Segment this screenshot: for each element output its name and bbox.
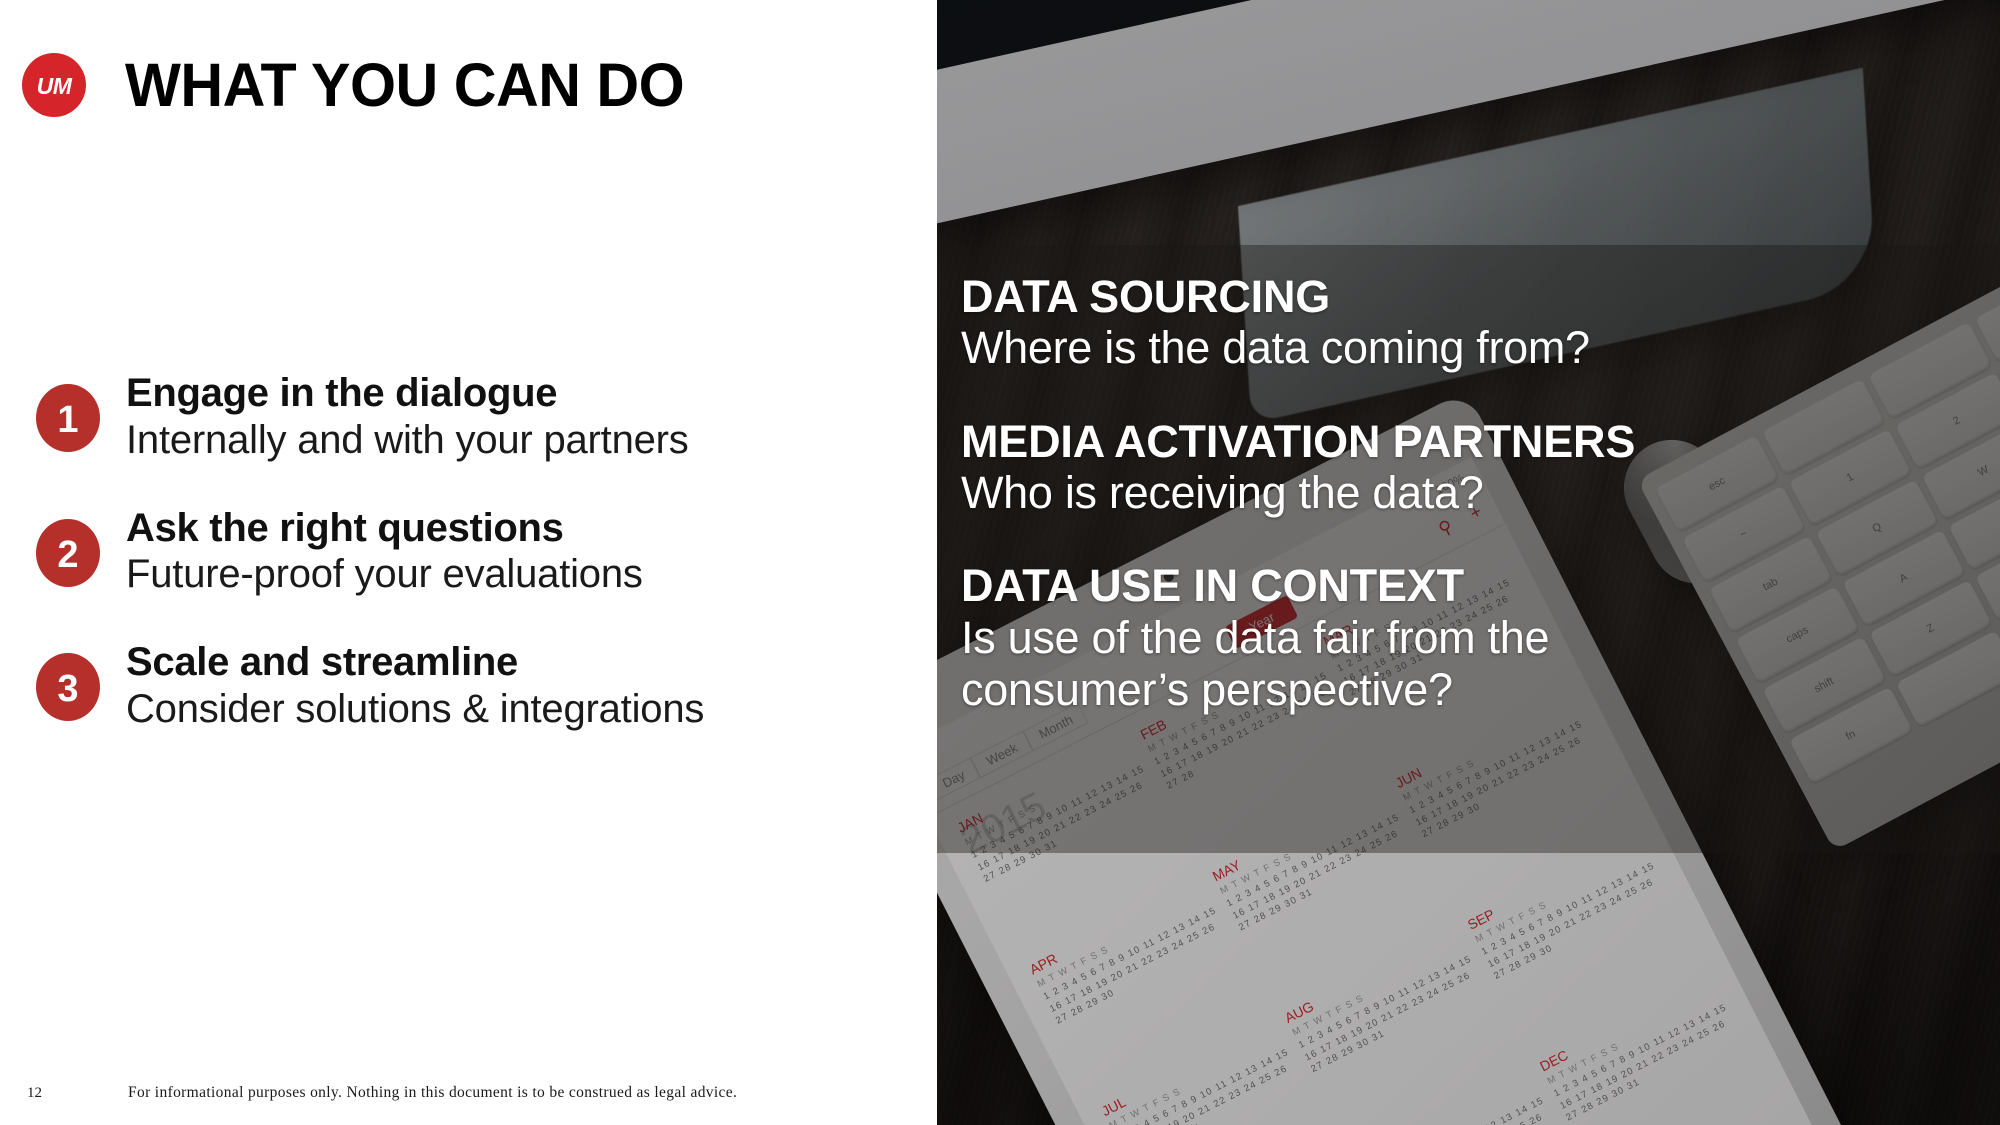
left-content-panel: UM WHAT YOU CAN DO 1 Engage in the dialo… [0,0,937,1125]
legal-disclaimer: For informational purposes only. Nothing… [128,1084,737,1102]
question-block: DATA SOURCING Where is the data coming f… [961,272,1981,375]
step-number: 2 [57,536,78,574]
step-number: 1 [57,401,78,439]
step-subtitle: Consider solutions & integrations [126,686,704,733]
questions-list: DATA SOURCING Where is the data coming f… [961,272,1981,716]
question-text-line2: consumer’s perspective? [961,664,1981,716]
step-number-badge: 3 [36,653,100,721]
step-text: Scale and streamline Consider solutions … [126,637,704,733]
step-title: Engage in the dialogue [126,370,689,417]
page-number: 12 [27,1085,42,1102]
step-title: Scale and streamline [126,639,704,686]
question-heading: MEDIA ACTIVATION PARTNERS [961,417,1981,467]
step-text: Ask the right questions Future-proof you… [126,503,643,599]
question-text: Where is the data coming from? [961,322,1981,374]
list-item: 3 Scale and streamline Consider solution… [36,637,916,733]
step-title: Ask the right questions [126,505,643,552]
question-text: Who is receiving the data? [961,467,1981,519]
slide-header: UM WHAT YOU CAN DO [22,45,702,125]
question-block: MEDIA ACTIVATION PARTNERS Who is receivi… [961,417,1981,520]
slide: UM WHAT YOU CAN DO 1 Engage in the dialo… [0,0,2000,1125]
right-photo-panel: iPad 100% Day Week Month Year ⚲ + 2015 [937,0,2000,1125]
step-number-badge: 1 [36,384,100,452]
slide-footer: 12 For informational purposes only. Noth… [0,1065,937,1125]
um-logo-icon: UM [22,53,86,117]
page-title: WHAT YOU CAN DO [125,55,684,116]
question-heading: DATA USE IN CONTEXT [961,561,1981,611]
step-subtitle: Internally and with your partners [126,417,689,464]
list-item: 2 Ask the right questions Future-proof y… [36,503,916,599]
question-text: Is use of the data fair from the [961,612,1981,664]
question-block: DATA USE IN CONTEXT Is use of the data f… [961,561,1981,716]
step-text: Engage in the dialogue Internally and wi… [126,368,689,464]
step-subtitle: Future-proof your evaluations [126,551,643,598]
list-item: 1 Engage in the dialogue Internally and … [36,368,916,464]
step-number-badge: 2 [36,519,100,587]
um-logo-label: UM [37,75,72,98]
steps-list: 1 Engage in the dialogue Internally and … [36,368,916,733]
question-heading: DATA SOURCING [961,272,1981,322]
step-number: 3 [57,670,78,708]
